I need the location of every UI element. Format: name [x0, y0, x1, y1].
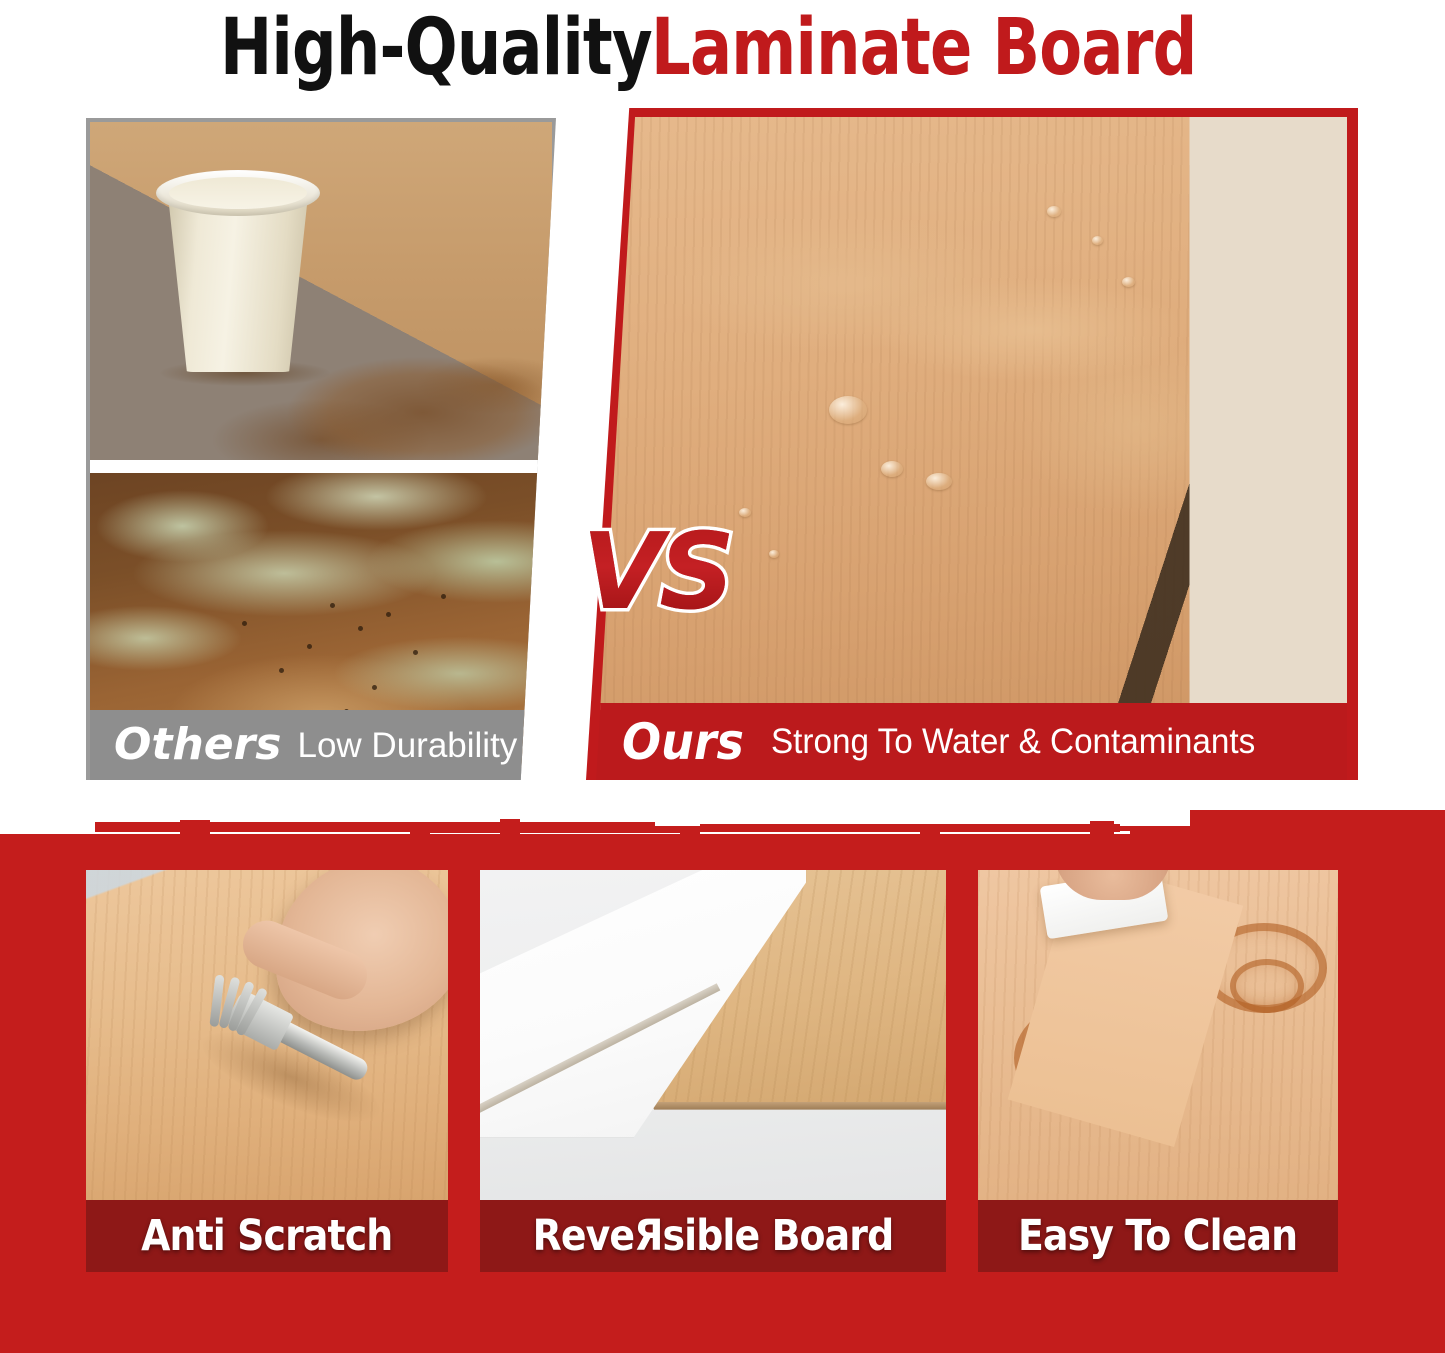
easy-to-clean-caption-bar: Easy To Clean [978, 1200, 1338, 1272]
coffee-spill-image [90, 122, 552, 460]
feature-tiles: Anti Scratch ReveЯsible Board [0, 870, 1445, 1353]
image-divider [90, 460, 552, 473]
ours-card: Ours Strong To Water & Contaminants [586, 108, 1358, 780]
ours-name: Ours [622, 717, 744, 767]
feature-caption: Anti Scratch [141, 1215, 392, 1258]
features-banner: Anti Scratch ReveЯsible Board [0, 800, 1445, 1353]
anti-scratch-caption-bar: Anti Scratch [86, 1200, 448, 1272]
feature-tile-easy-to-clean[interactable]: Easy To Clean [978, 870, 1338, 1272]
reversible-board-image [480, 870, 946, 1200]
others-card-inner: Others Low Durability [90, 122, 552, 780]
vs-badge: VS [582, 520, 731, 625]
paper-cup-icon [156, 164, 320, 376]
title-part-black: High-Quality [220, 2, 652, 94]
others-card: Others Low Durability [86, 118, 556, 780]
feature-caption: ReveЯsible Board [533, 1215, 894, 1258]
easy-to-clean-image [978, 870, 1338, 1200]
page-title: High-Quality Laminate Board [0, 2, 1445, 94]
ours-card-inner: Ours Strong To Water & Contaminants [596, 117, 1347, 780]
feature-tile-anti-scratch[interactable]: Anti Scratch [86, 870, 448, 1272]
comparison-section: Others Low Durability Ou [0, 108, 1445, 780]
infographic-root: High-Quality Laminate Board [0, 0, 1445, 1353]
others-label-bar: Others Low Durability [90, 710, 552, 780]
brush-stroke-edge [0, 800, 1445, 870]
ours-tagline: Strong To Water & Contaminants [771, 724, 1255, 759]
others-name: Others [114, 723, 282, 767]
title-part-red: Laminate Board [651, 2, 1196, 94]
reversible-board-caption-bar: ReveЯsible Board [480, 1200, 946, 1272]
anti-scratch-image [86, 870, 448, 1200]
feature-tile-reversible-board[interactable]: ReveЯsible Board [480, 870, 946, 1272]
feature-caption: Easy To Clean [1018, 1215, 1297, 1258]
others-tagline: Low Durability [298, 728, 518, 763]
ours-label-bar: Ours Strong To Water & Contaminants [596, 703, 1347, 780]
